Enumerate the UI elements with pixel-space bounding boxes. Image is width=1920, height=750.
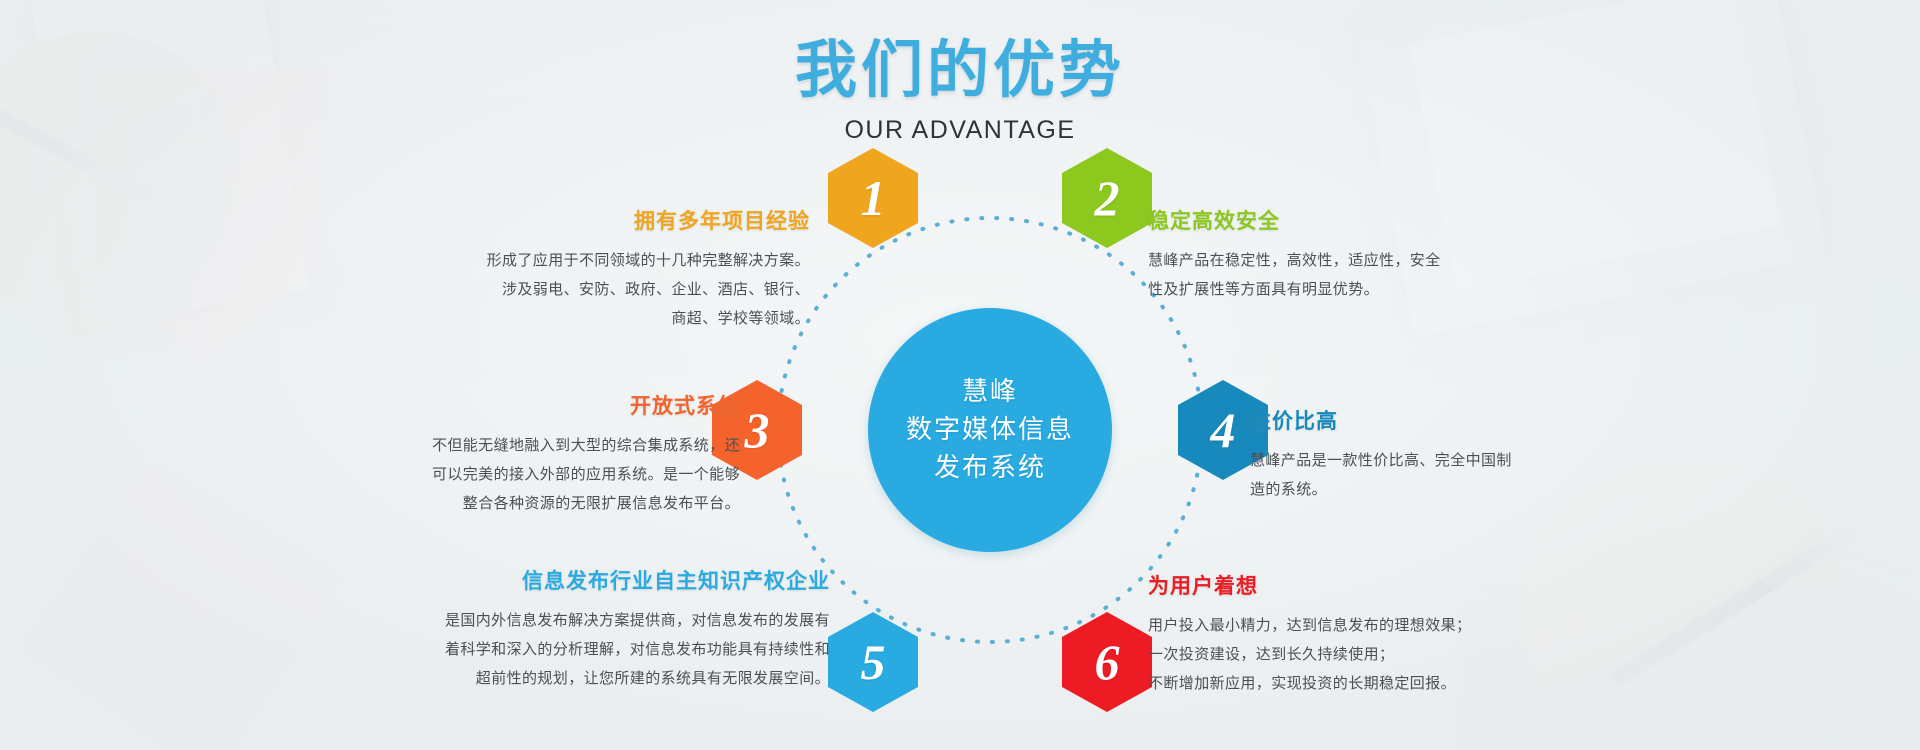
paper-sheet-bottom-left [2, 442, 358, 750]
advantage-heading-4: 性价比高 [1250, 405, 1670, 435]
advantage-heading-1: 拥有多年项目经验 [370, 205, 810, 235]
advantage-body-1: 形成了应用于不同领域的十几种完整解决方案。 涉及弱电、安防、政府、企业、酒店、银… [370, 247, 810, 333]
advantage-body-line: 不断增加新应用，实现投资的长期稳定回报。 [1148, 675, 1456, 692]
advantage-block-3: 开放式系统 不但能无缝地融入到大型的综合集成系统，还 可以完美的接入外部的应用系… [340, 390, 740, 518]
advantage-block-1: 拥有多年项目经验 形成了应用于不同领域的十几种完整解决方案。 涉及弱电、安防、政… [370, 205, 810, 333]
advantage-body-4: 慧峰产品是一款性价比高、完全中国制 造的系统。 [1250, 447, 1670, 505]
center-line-3: 发布系统 [934, 449, 1046, 487]
advantage-heading-2: 稳定高效安全 [1148, 205, 1588, 235]
page-subtitle: OUR ADVANTAGE [0, 116, 1920, 145]
advantage-body-line: 一次投资建设，达到长久持续使用； [1148, 646, 1394, 663]
advantage-block-4: 性价比高 慧峰产品是一款性价比高、完全中国制 造的系统。 [1250, 405, 1670, 505]
advantage-body-line: 形成了应用于不同领域的十几种完整解决方案。 [487, 252, 810, 269]
page-title: 我们的优势 [0, 40, 1920, 102]
advantage-body-line: 可以完美的接入外部的应用系统。是一个能够 [432, 466, 740, 483]
advantage-body-6: 用户投入最小精力，达到信息发布的理想效果； 一次投资建设，达到长久持续使用； 不… [1148, 612, 1608, 698]
hexagon-number-5: 5 [861, 637, 886, 687]
pen-right [1608, 515, 1871, 688]
advantage-body-line: 造的系统。 [1250, 481, 1327, 498]
advantage-block-6: 为用户着想 用户投入最小精力，达到信息发布的理想效果； 一次投资建设，达到长久持… [1148, 570, 1608, 698]
advantage-body-line: 慧峰产品是一款性价比高、完全中国制 [1250, 452, 1512, 469]
advantage-body-line: 商超、学校等领域。 [671, 310, 810, 327]
advantage-body-line: 用户投入最小精力，达到信息发布的理想效果； [1148, 617, 1471, 634]
advantage-block-5: 信息发布行业自主知识产权企业 是国内外信息发布解决方案提供商，对信息发布的发展有… [380, 565, 830, 693]
advantage-body-3: 不但能无缝地融入到大型的综合集成系统，还 可以完美的接入外部的应用系统。是一个能… [340, 432, 740, 518]
advantage-body-line: 超前性的规划，让您所建的系统具有无限发展空间。 [476, 670, 830, 687]
page-header: 我们的优势 OUR ADVANTAGE [0, 40, 1920, 145]
advantage-body-2: 慧峰产品在稳定性，高效性，适应性，安全 性及扩展性等方面具有明显优势。 [1148, 247, 1588, 305]
advantage-body-line: 涉及弱电、安防、政府、企业、酒店、银行、 [502, 281, 810, 298]
advantage-heading-5: 信息发布行业自主知识产权企业 [380, 565, 830, 595]
advantage-heading-3: 开放式系统 [340, 390, 740, 420]
advantage-banner: 我们的优势 OUR ADVANTAGE 慧峰 数字媒体信息 发布系统 1 2 3… [0, 0, 1920, 750]
advantage-body-line: 不但能无缝地融入到大型的综合集成系统，还 [432, 437, 740, 454]
advantage-body-line: 是国内外信息发布解决方案提供商，对信息发布的发展有 [445, 612, 830, 629]
advantage-body-5: 是国内外信息发布解决方案提供商，对信息发布的发展有 着科学和深入的分析理解，对信… [380, 607, 830, 693]
advantage-body-line: 慧峰产品在稳定性，高效性，适应性，安全 [1148, 252, 1441, 269]
hexagon-number-3: 3 [745, 405, 770, 455]
advantage-body-line: 性及扩展性等方面具有明显优势。 [1148, 281, 1379, 298]
center-circle: 慧峰 数字媒体信息 发布系统 [868, 308, 1112, 552]
advantage-body-line: 整合各种资源的无限扩展信息发布平台。 [463, 495, 740, 512]
advantage-body-line: 着科学和深入的分析理解，对信息发布功能具有持续性和 [445, 641, 830, 658]
advantage-block-2: 稳定高效安全 慧峰产品在稳定性，高效性，适应性，安全 性及扩展性等方面具有明显优… [1148, 205, 1588, 305]
center-line-2: 数字媒体信息 [906, 411, 1074, 449]
hexagon-number-4: 4 [1211, 405, 1236, 455]
hexagon-number-2: 2 [1095, 173, 1120, 223]
advantage-heading-6: 为用户着想 [1148, 570, 1608, 600]
center-line-1: 慧峰 [962, 373, 1018, 411]
hexagon-number-1: 1 [861, 173, 886, 223]
hexagon-number-6: 6 [1095, 637, 1120, 687]
